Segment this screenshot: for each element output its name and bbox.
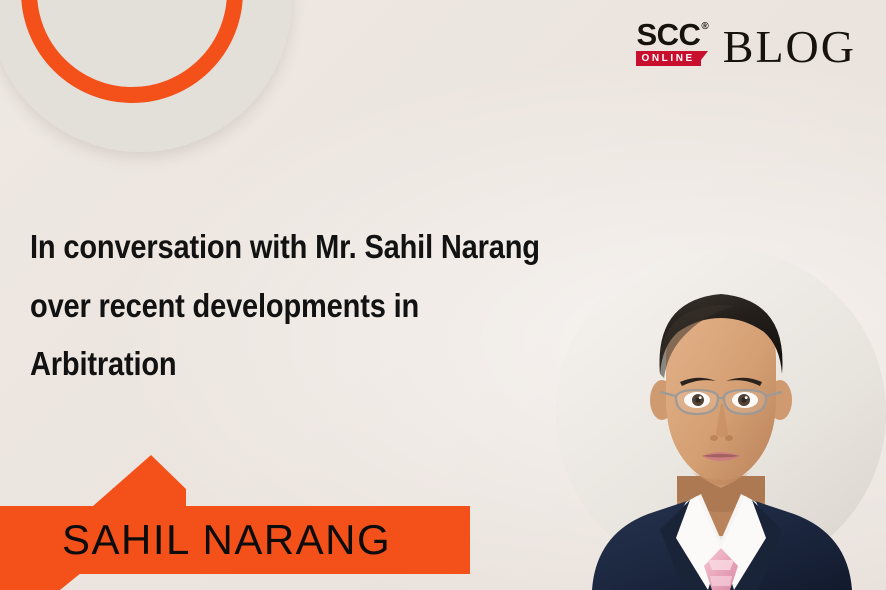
- registered-trademark-icon: ®: [701, 23, 708, 32]
- speaker-name-banner: SAHIL NARANG: [0, 506, 470, 574]
- scc-online-lockup: SCC ® ONLINE: [636, 22, 708, 69]
- speaker-name: SAHIL NARANG: [62, 516, 391, 564]
- headline-title: In conversation with Mr. Sahil Narang ov…: [30, 218, 558, 394]
- scc-wordmark-row: SCC ®: [636, 22, 708, 49]
- blog-promo-banner: SCC ® ONLINE BLOG In conversation with M…: [0, 0, 886, 590]
- scc-wordmark: SCC: [636, 22, 700, 49]
- scc-online-blog-logo[interactable]: SCC ® ONLINE BLOG: [636, 22, 856, 69]
- online-red-bar: ONLINE: [636, 51, 700, 66]
- portrait-photo: [556, 248, 886, 590]
- blog-wordmark: BLOG: [723, 25, 856, 69]
- online-wordmark: ONLINE: [641, 53, 694, 64]
